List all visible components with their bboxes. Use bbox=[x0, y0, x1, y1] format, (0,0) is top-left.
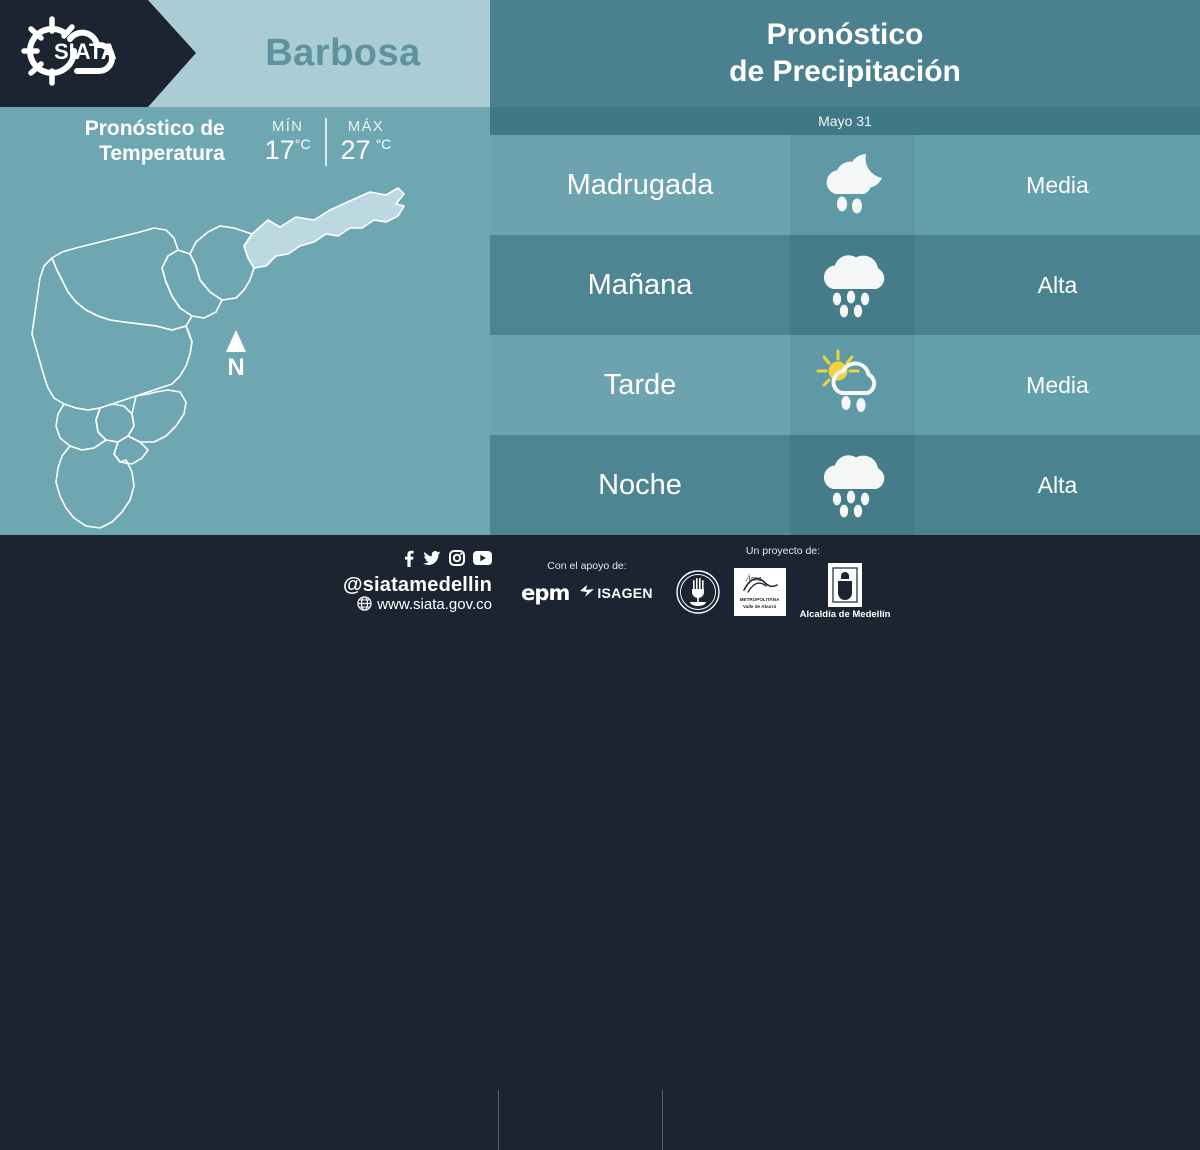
youtube-icon[interactable] bbox=[473, 551, 492, 570]
period-label: Noche bbox=[490, 435, 790, 535]
siata-wordmark: SIATA bbox=[54, 39, 117, 64]
left-panel: SIATA Barbosa Pronóstico de Temperatura … bbox=[0, 0, 490, 535]
probability-label: Alta bbox=[915, 235, 1200, 335]
temperature-summary: Pronóstico de Temperatura MÍN 17°C MÁX 2… bbox=[0, 107, 490, 177]
amva-sub: Valle de Aburrá bbox=[743, 604, 776, 610]
map-region-medellin bbox=[32, 258, 192, 410]
weather-infographic: SIATA Barbosa Pronóstico de Temperatura … bbox=[0, 0, 1200, 630]
sun-cloud-icon: SIATA bbox=[10, 11, 138, 96]
svg-text:Área: Área bbox=[745, 574, 761, 583]
isagen-mark-icon bbox=[579, 584, 595, 603]
table-row: Mañana Alta bbox=[490, 235, 1200, 335]
cloud-heavy-rain-icon bbox=[813, 247, 893, 324]
social-icons bbox=[402, 550, 492, 572]
alcaldia-label: Alcaldía de Medellín bbox=[800, 609, 891, 620]
temperature-title-line1: Pronóstico de bbox=[85, 117, 225, 142]
support-block: Con el apoyo de: epm ISAGEN bbox=[512, 535, 662, 630]
temperature-title: Pronóstico de Temperatura bbox=[85, 117, 225, 167]
moon-cloud-rain-icon bbox=[814, 150, 892, 221]
city-name: Barbosa bbox=[196, 0, 490, 107]
temperature-min: MÍN 17°C bbox=[251, 118, 327, 165]
alcaldia-de-medellin-logo: Alcaldía de Medellín bbox=[800, 563, 891, 620]
weather-icon-cell bbox=[790, 435, 915, 535]
map-region-copacabana bbox=[162, 250, 222, 318]
map-internal-border bbox=[186, 326, 192, 354]
table-row: Madrugada Media bbox=[490, 135, 1200, 235]
epm-logo: epm bbox=[521, 581, 569, 605]
area-metropolitana-logo: Área METROPOLITANA Valle de Aburrá bbox=[734, 568, 786, 616]
footer: @siatamedellin www.siata.gov.co Con el a… bbox=[0, 535, 1200, 630]
support-logos: epm ISAGEN bbox=[521, 581, 653, 605]
compass-north-icon: N bbox=[226, 330, 246, 381]
degree-unit-min: °C bbox=[295, 136, 311, 152]
period-label: Madrugada bbox=[490, 135, 790, 235]
probability-label: Media bbox=[915, 135, 1200, 235]
universidad-de-antioquia-seal bbox=[676, 570, 720, 614]
period-label: Mañana bbox=[490, 235, 790, 335]
temperature-values: MÍN 17°C MÁX 27°C bbox=[251, 118, 406, 165]
temperature-min-label: MÍN bbox=[265, 118, 311, 135]
weather-icon-cell bbox=[790, 335, 915, 435]
left-header: SIATA Barbosa bbox=[0, 0, 490, 107]
globe-icon bbox=[357, 596, 372, 616]
footer-divider-2 bbox=[662, 1090, 663, 1150]
support-caption: Con el apoyo de: bbox=[547, 560, 626, 572]
map-region-envigado bbox=[128, 390, 186, 442]
amva-name: METROPOLITANA bbox=[740, 597, 780, 603]
aburra-valley-map: N bbox=[0, 170, 490, 535]
instagram-icon[interactable] bbox=[449, 550, 465, 571]
sun-cloud-rain-icon bbox=[812, 347, 894, 424]
degree-unit-max: °C bbox=[376, 136, 392, 152]
website-url: www.siata.gov.co bbox=[377, 597, 492, 614]
twitter-icon[interactable] bbox=[423, 551, 441, 571]
forecast-date: Mayo 31 bbox=[818, 113, 872, 129]
project-logos: Área METROPOLITANA Valle de Aburrá bbox=[676, 563, 891, 620]
map-region-la-estrella bbox=[56, 404, 106, 450]
cloud-heavy-rain-icon bbox=[813, 447, 893, 524]
period-label: Tarde bbox=[490, 335, 790, 435]
weather-icon-cell bbox=[790, 235, 915, 335]
map-region-bello bbox=[52, 228, 192, 330]
forecast-title-line2: de Precipitación bbox=[729, 54, 961, 91]
temperature-min-value: 17°C bbox=[265, 135, 311, 165]
facebook-icon[interactable] bbox=[402, 550, 415, 572]
social-block: @siatamedellin www.siata.gov.co bbox=[300, 535, 500, 630]
compass-label: N bbox=[227, 354, 244, 381]
precipitation-header: Pronóstico de Precipitación bbox=[490, 0, 1200, 107]
project-caption: Un proyecto de: bbox=[746, 545, 820, 557]
probability-label: Media bbox=[915, 335, 1200, 435]
temperature-max-label: MÁX bbox=[341, 118, 392, 135]
temperature-max-value: 27°C bbox=[341, 135, 392, 165]
forecast-date-band: Mayo 31 bbox=[490, 107, 1200, 135]
website-link[interactable]: www.siata.gov.co bbox=[357, 596, 492, 616]
forecast-table: Madrugada Media Mañana bbox=[490, 135, 1200, 535]
forecast-title-line1: Pronóstico bbox=[729, 17, 961, 54]
page-title: Pronóstico de Precipitación bbox=[729, 17, 961, 90]
map-region-barbosa bbox=[244, 188, 404, 268]
footer-divider-1 bbox=[498, 1090, 499, 1150]
right-panel: Pronóstico de Precipitación Mayo 31 Madr… bbox=[490, 0, 1200, 535]
table-row: Tarde bbox=[490, 335, 1200, 435]
temperature-title-line2: Temperatura bbox=[85, 142, 225, 167]
probability-label: Alta bbox=[915, 435, 1200, 535]
weather-icon-cell bbox=[790, 135, 915, 235]
isagen-logo: ISAGEN bbox=[597, 585, 652, 601]
project-block: Un proyecto de: bbox=[668, 535, 898, 630]
alcaldia-crest-icon bbox=[828, 563, 862, 607]
table-row: Noche Alta bbox=[490, 435, 1200, 535]
social-handle[interactable]: @siatamedellin bbox=[343, 574, 492, 596]
siata-logo-banner: SIATA bbox=[0, 0, 196, 107]
map-region-caldas bbox=[56, 440, 134, 528]
temperature-max: MÁX 27°C bbox=[327, 118, 406, 165]
map-region-girardota bbox=[190, 226, 254, 300]
